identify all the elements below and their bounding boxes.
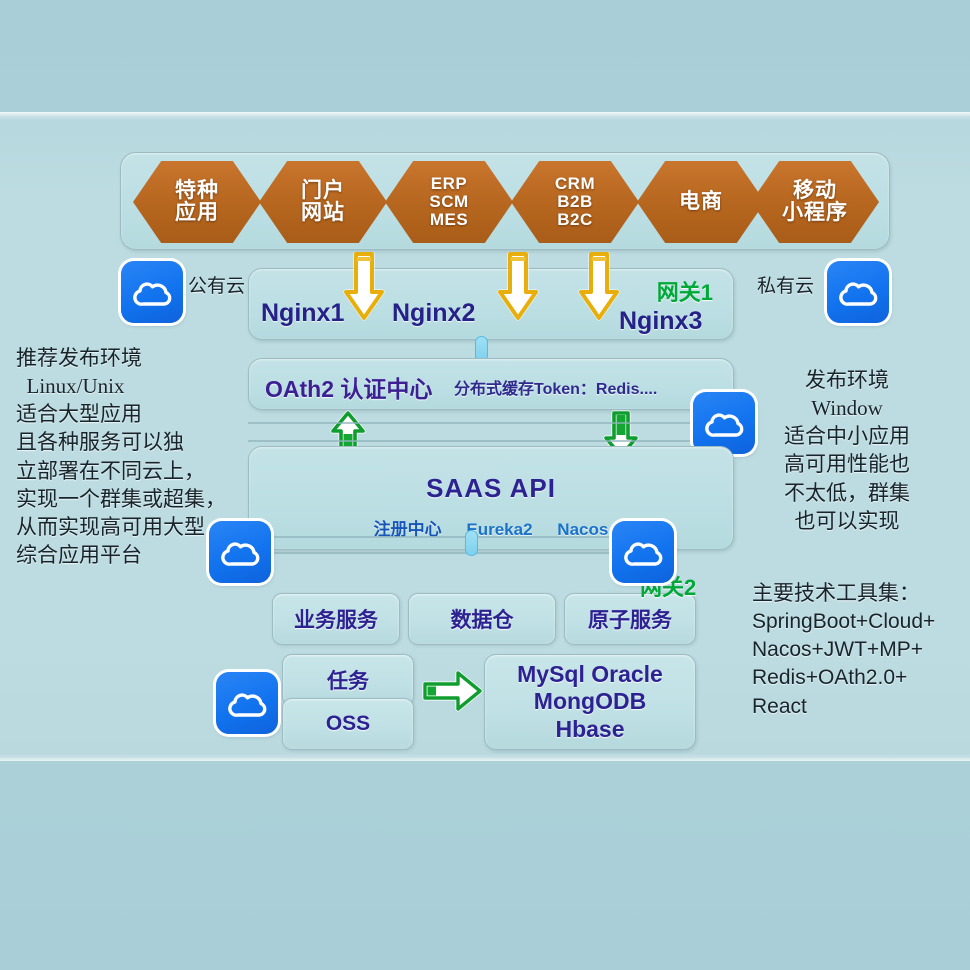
note-tools-line-4: Redis+OAth2.0+ xyxy=(752,664,935,692)
cloud-icon-oauth-right xyxy=(693,392,755,454)
diagram-canvas: 特种应用 门户网站 ERPSCMMES CRMB2BB2C 电商 移动小程序 N… xyxy=(0,0,970,970)
app-hex-crm-b2b-b2c-line-3: B2C xyxy=(557,211,593,229)
app-hex-erp-scm-mes-line-2: SCM xyxy=(429,193,468,211)
datastore-line-1: MySql Oracle xyxy=(517,661,663,688)
note-left-line-7: 从而实现高可用大型 xyxy=(16,513,226,541)
note-right-line-3: 适合中小应用 xyxy=(752,422,942,450)
note-left-line-5: 立部署在不同云上， xyxy=(16,457,226,485)
service-box-business[interactable]: 业务服务 xyxy=(272,593,400,645)
app-hex-ecommerce[interactable]: 电商 xyxy=(637,161,765,243)
oauth2-title: OAth2 认证中心 xyxy=(265,370,432,404)
note-tools-line-1: 主要技术工具集： xyxy=(752,580,935,608)
oauth2-token-cache-label: 分布式缓存Token：Redis.... xyxy=(454,375,657,399)
divider-line-saas-upper xyxy=(248,536,648,538)
app-hex-mobile-miniprogram-line-2: 小程序 xyxy=(782,202,848,224)
cloud-icon-public xyxy=(121,261,183,323)
gateway1-label: 网关1 xyxy=(657,275,713,307)
app-hex-mobile-miniprogram-line-1: 移动 xyxy=(793,180,837,202)
note-left-line-2: Linux/Unix xyxy=(16,372,226,400)
gateway1-nginx-panel: Nginx1 Nginx2 Nginx3 网关1 xyxy=(248,268,734,340)
app-hex-portal-website-line-1: 门户 xyxy=(301,180,345,202)
note-tools-line-3: Nacos+JWT+MP+ xyxy=(752,636,935,664)
note-right-line-2: Window xyxy=(752,394,942,422)
app-hex-crm-b2b-b2c-line-1: CRM xyxy=(555,175,595,193)
cloud-glyph xyxy=(702,406,746,440)
note-right-line-6: 也可以实现 xyxy=(752,507,942,535)
note-tools-line-5: React xyxy=(752,693,935,721)
private-cloud-label: 私有云 xyxy=(757,271,814,298)
app-hex-crm-b2b-b2c-line-2: B2B xyxy=(557,193,593,211)
app-hex-ecommerce-line-1: 电商 xyxy=(679,191,723,213)
app-hex-portal-website-line-2: 网站 xyxy=(301,202,345,224)
nginx2-label: Nginx2 xyxy=(392,299,475,328)
app-hex-erp-scm-mes-line-1: ERP xyxy=(431,175,467,193)
cloud-icon-services-right xyxy=(612,521,674,583)
services-to-datastore-arrow xyxy=(422,668,484,714)
note-tech-stack: 主要技术工具集：SpringBoot+Cloud+Nacos+JWT+MP+Re… xyxy=(752,580,935,721)
app-hex-special-application-line-2: 应用 xyxy=(175,202,219,224)
datastore-line-2: MongODB xyxy=(534,688,646,715)
service-box-datawarehouse[interactable]: 数据仓 xyxy=(408,593,556,645)
app-to-gateway-arrow-2 xyxy=(497,252,539,324)
nginx3-label: Nginx3 xyxy=(619,307,702,336)
app-hex-erp-scm-mes-line-3: MES xyxy=(430,211,468,229)
note-tools-line-2: SpringBoot+Cloud+ xyxy=(752,608,935,636)
datastore-box[interactable]: MySql Oracle MongODB Hbase xyxy=(484,654,696,750)
note-right-line-1: 发布环境 xyxy=(752,366,942,394)
note-left-line-1: 推荐发布环境 xyxy=(16,344,226,372)
cloud-glyph xyxy=(621,535,665,569)
divider-line-saas-lower xyxy=(248,552,648,554)
oauth2-panel: OAth2 认证中心 分布式缓存Token：Redis.... xyxy=(248,358,734,410)
app-hex-mobile-miniprogram[interactable]: 移动小程序 xyxy=(751,161,879,243)
note-left-line-3: 适合大型应用 xyxy=(16,400,226,428)
public-cloud-label: 公有云 xyxy=(188,271,245,298)
cloud-glyph xyxy=(836,275,880,309)
cloud-icon-private xyxy=(827,261,889,323)
cloud-glyph xyxy=(225,686,269,720)
note-left-line-6: 实现一个群集或超集， xyxy=(16,485,226,513)
note-left-line-8: 综合应用平台 xyxy=(16,541,226,569)
saas-api-title: SAAS API xyxy=(249,473,733,504)
note-right-line-5: 不太低，群集 xyxy=(752,479,942,507)
note-left-line-4: 且各种服务可以独 xyxy=(16,428,226,456)
connector-saas-to-services xyxy=(465,530,478,556)
app-hex-portal-website[interactable]: 门户网站 xyxy=(259,161,387,243)
app-to-gateway-arrow-3 xyxy=(578,252,620,324)
note-right-deployment: 发布环境Window适合中小应用高可用性能也不太低，群集也可以实现 xyxy=(752,366,942,535)
note-right-line-4: 高可用性能也 xyxy=(752,450,942,478)
nginx1-label: Nginx1 xyxy=(261,299,344,328)
cloud-icon-bottom-left xyxy=(216,672,278,734)
app-hex-special-application[interactable]: 特种应用 xyxy=(133,161,261,243)
app-hex-erp-scm-mes[interactable]: ERPSCMMES xyxy=(385,161,513,243)
datastore-line-3: Hbase xyxy=(555,716,624,743)
service-box-oss[interactable]: OSS xyxy=(282,698,414,750)
divider-line-upper xyxy=(248,422,734,424)
application-layer-panel: 特种应用 门户网站 ERPSCMMES CRMB2BB2C 电商 移动小程序 xyxy=(120,152,890,250)
note-left-deployment: 推荐发布环境 Linux/Unix适合大型应用且各种服务可以独立部署在不同云上，… xyxy=(16,344,226,569)
cloud-glyph xyxy=(130,275,174,309)
divider-line-lower xyxy=(248,440,734,442)
app-hex-special-application-line-1: 特种 xyxy=(175,180,219,202)
app-to-gateway-arrow-1 xyxy=(343,252,385,324)
app-hex-crm-b2b-b2c[interactable]: CRMB2BB2C xyxy=(511,161,639,243)
